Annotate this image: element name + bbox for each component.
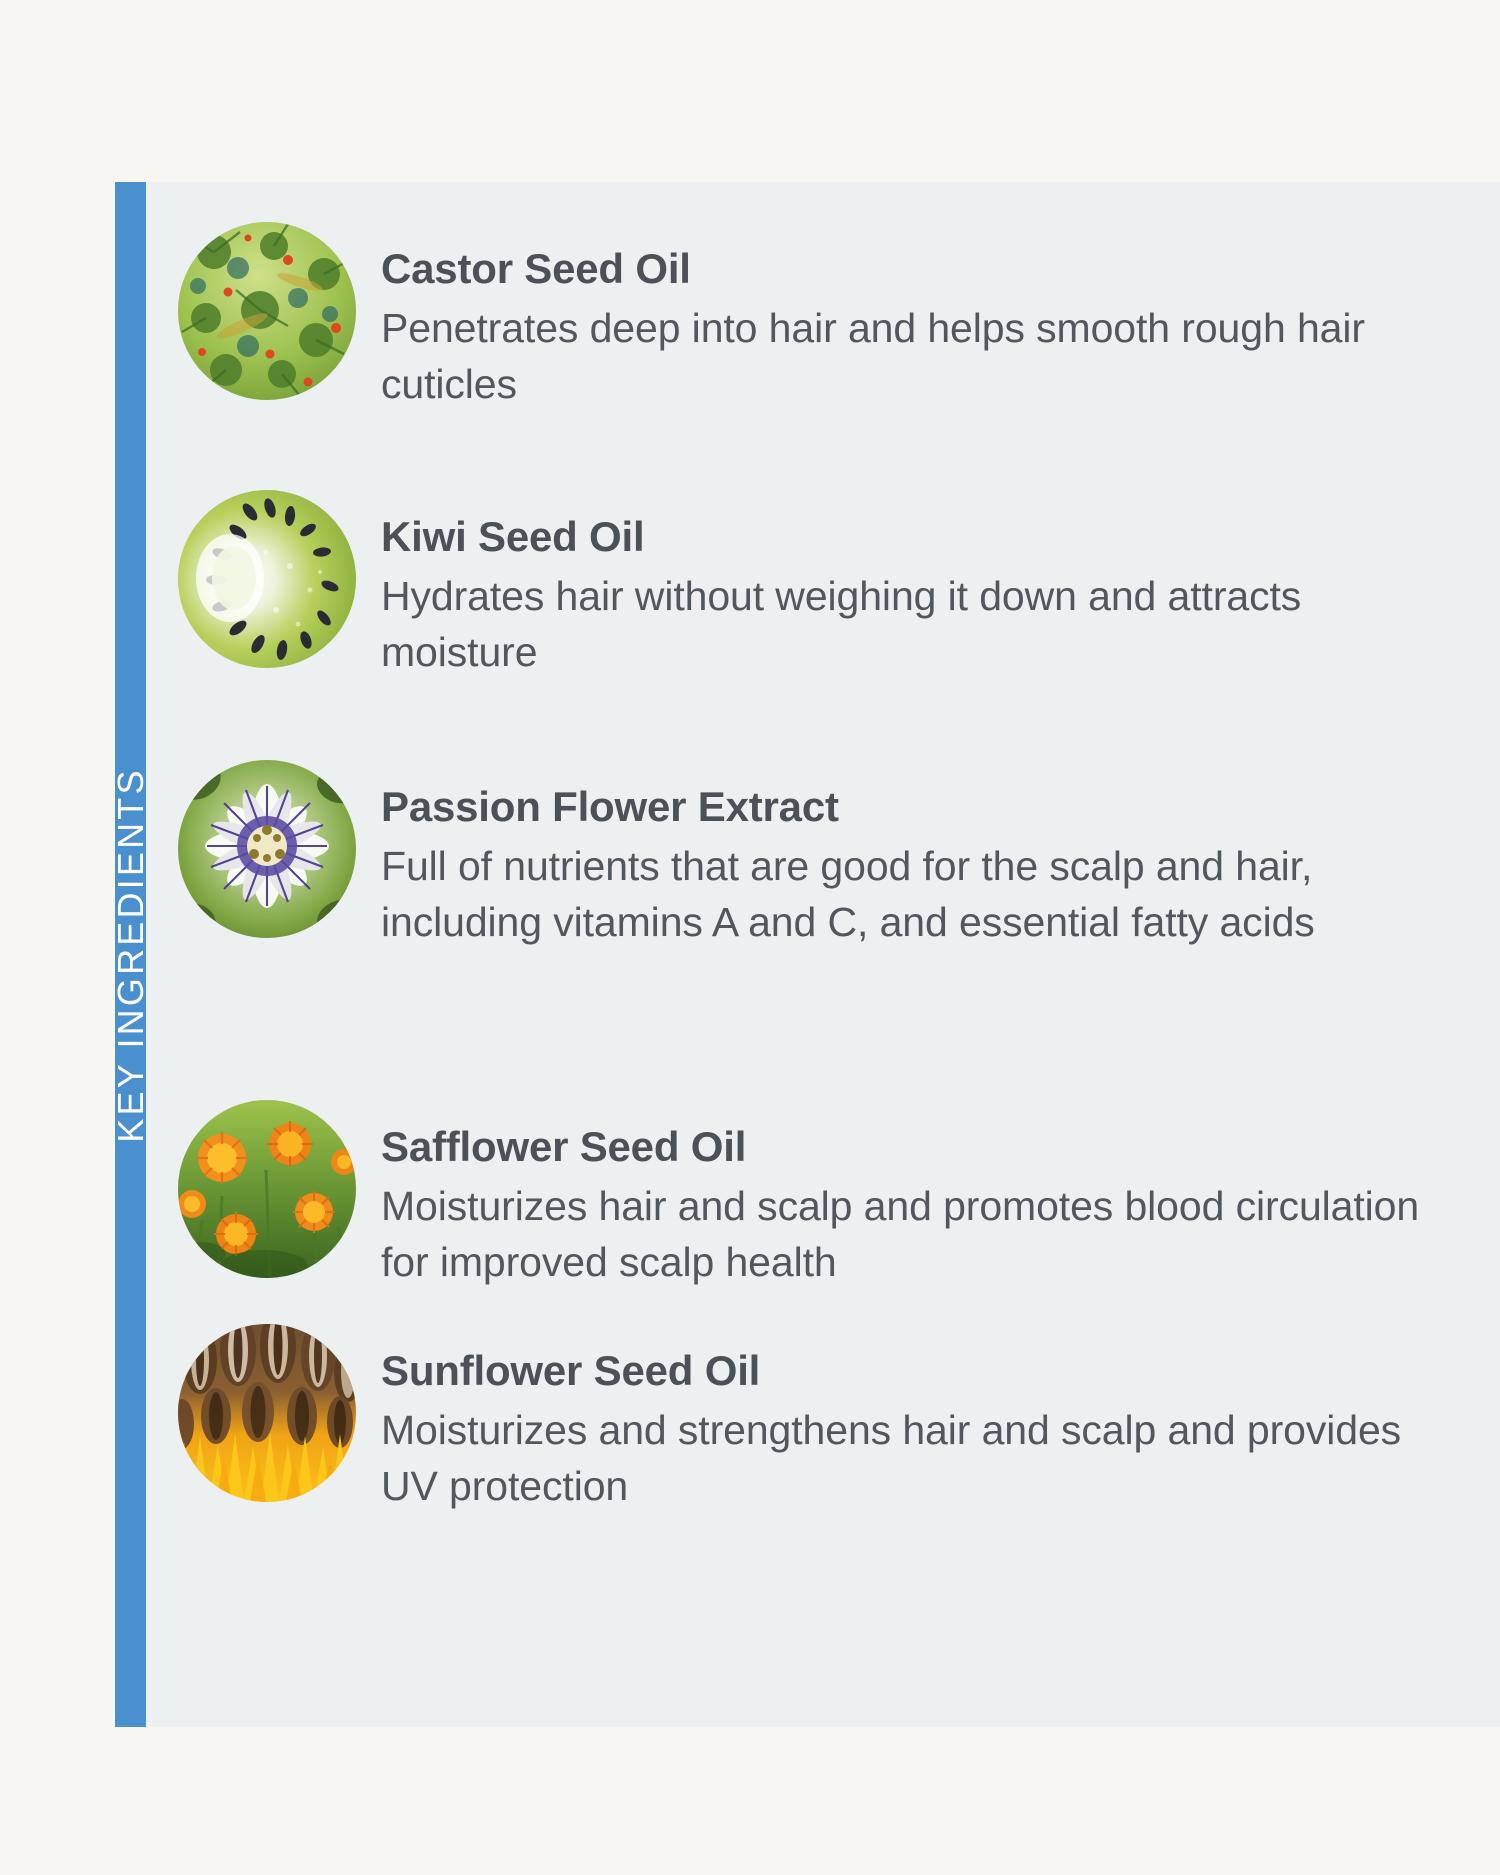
castor-seed-photo [178,222,356,400]
ingredients-infographic: KEY INGREDIENTS [0,0,1500,1875]
passion-flower-photo [178,760,356,938]
safflower-photo [178,1100,356,1278]
ingredient-title: Kiwi Seed Oil [381,512,1441,562]
ingredient-description: Moisturizes hair and scalp and promotes … [381,1178,1441,1290]
ingredient-text-kiwi-seed-oil: Kiwi Seed Oil Hydrates hair without weig… [381,512,1441,680]
ingredient-item-safflower-seed-oil: Safflower Seed Oil Moisturizes hair and … [178,1100,1468,1300]
ingredient-item-kiwi-seed-oil: Kiwi Seed Oil Hydrates hair without weig… [178,490,1468,690]
ingredient-description: Hydrates hair without weighing it down a… [381,568,1441,680]
sunflower-seed-photo [178,1324,356,1502]
ingredient-title: Castor Seed Oil [381,244,1441,294]
ingredient-description: Full of nutrients that are good for the … [381,838,1441,950]
kiwi-seed-photo [178,490,356,668]
key-ingredients-sidebar: KEY INGREDIENTS [115,182,146,1727]
ingredient-item-passion-flower-extract: Passion Flower Extract Full of nutrients… [178,760,1468,1030]
ingredient-item-castor-seed-oil: Castor Seed Oil Penetrates deep into hai… [178,222,1468,422]
ingredient-title: Safflower Seed Oil [381,1122,1441,1172]
key-ingredients-label: KEY INGREDIENTS [110,767,152,1142]
ingredient-title: Passion Flower Extract [381,782,1441,832]
ingredient-title: Sunflower Seed Oil [381,1346,1441,1396]
ingredient-item-sunflower-seed-oil: Sunflower Seed Oil Moisturizes and stren… [178,1324,1468,1524]
ingredient-text-castor-seed-oil: Castor Seed Oil Penetrates deep into hai… [381,244,1441,412]
ingredient-text-sunflower-seed-oil: Sunflower Seed Oil Moisturizes and stren… [381,1346,1441,1514]
ingredient-text-safflower-seed-oil: Safflower Seed Oil Moisturizes hair and … [381,1122,1441,1290]
ingredient-description: Moisturizes and strengthens hair and sca… [381,1402,1441,1514]
ingredient-description: Penetrates deep into hair and helps smoo… [381,300,1441,412]
ingredient-text-passion-flower-extract: Passion Flower Extract Full of nutrients… [381,782,1441,950]
ingredients-list: Castor Seed Oil Penetrates deep into hai… [178,182,1468,1727]
